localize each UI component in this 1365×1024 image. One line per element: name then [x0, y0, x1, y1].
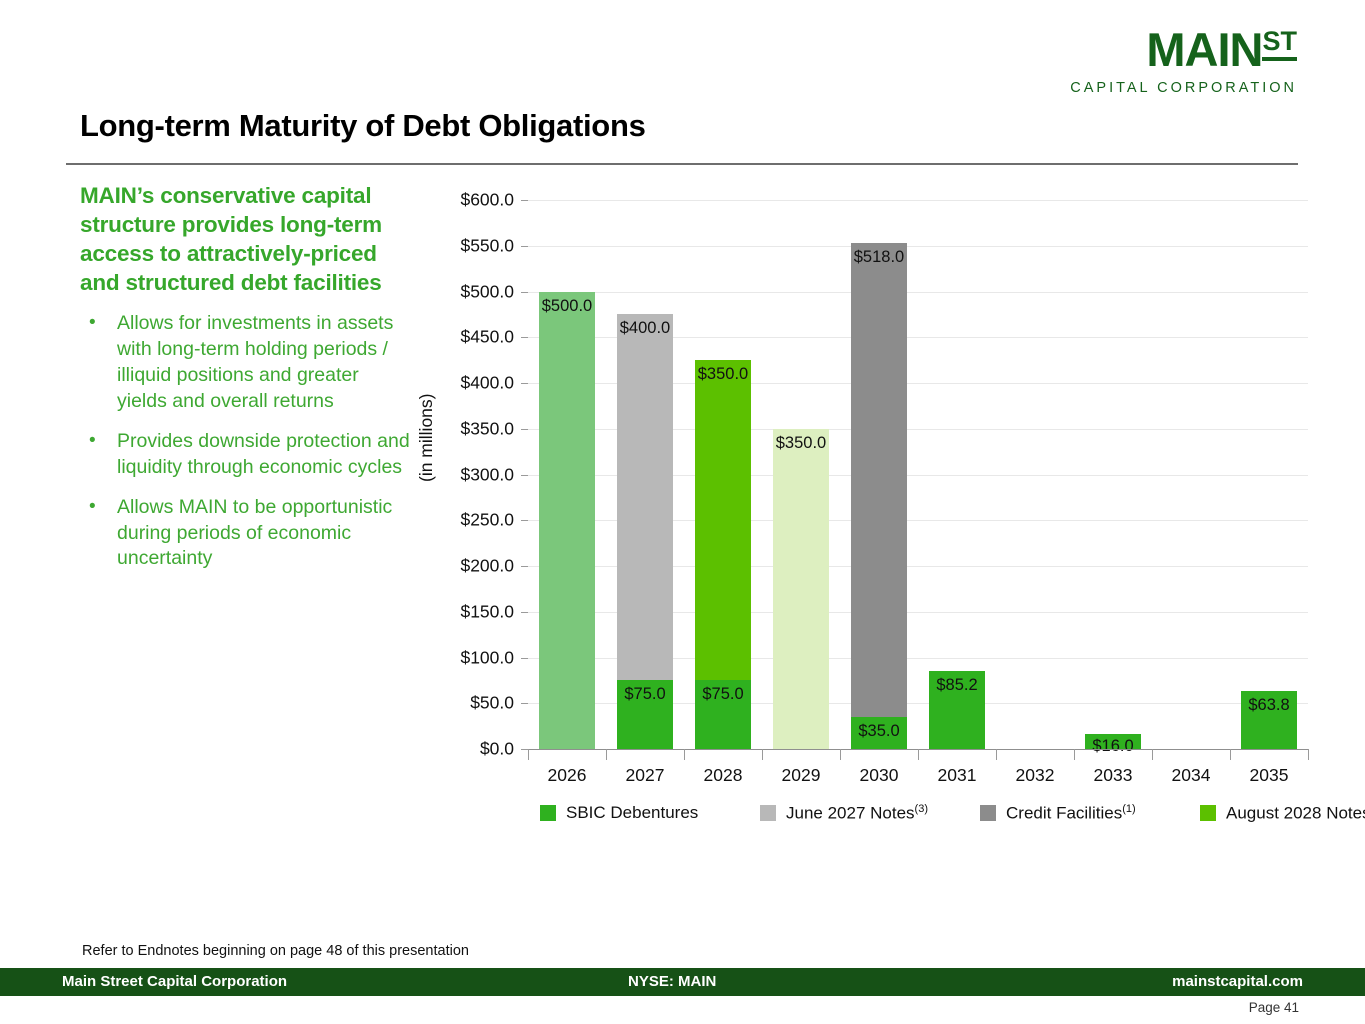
x-axis-tick-mark	[528, 749, 529, 760]
y-axis-tick-mark	[521, 749, 528, 750]
list-item: • Allows for investments in assets with …	[80, 311, 410, 415]
y-axis-tick-mark	[521, 429, 528, 430]
legend-label: SBIC Debentures	[566, 803, 698, 823]
footer-bar: Main Street Capital Corporation NYSE: MA…	[0, 968, 1365, 996]
bar-column-2030[interactable]: $35.0$518.0	[851, 243, 907, 749]
legend-item[interactable]: June 2027 Notes(3)	[760, 803, 980, 824]
bar-column-2035[interactable]: $63.8	[1241, 691, 1297, 749]
x-axis-tick-label: 2030	[860, 765, 899, 786]
bar-segment[interactable]: $350.0	[695, 360, 751, 680]
footer-website[interactable]: mainstcapital.com	[1172, 973, 1303, 990]
page-number: Page 41	[1249, 1000, 1299, 1015]
legend-item[interactable]: Credit Facilities(1)	[980, 803, 1200, 824]
chart-plot-area: $0.0$50.0$100.0$150.0$200.0$250.0$300.0$…	[528, 200, 1308, 749]
bullet-list: • Allows for investments in assets with …	[80, 311, 410, 572]
chart-legend: SBIC DebenturesJune 2027 Notes(3)Credit …	[540, 803, 1220, 824]
x-axis-tick-mark	[1152, 749, 1153, 760]
bar-value-label: $35.0	[858, 722, 899, 741]
gridline	[528, 246, 1308, 247]
x-axis-tick-mark	[1074, 749, 1075, 760]
x-axis-tick-mark	[684, 749, 685, 760]
y-axis-tick-label: $0.0	[374, 739, 514, 760]
legend-footnote-marker: (3)	[915, 803, 928, 815]
list-item-text: Allows MAIN to be opportunistic during p…	[117, 496, 392, 570]
y-axis-tick-mark	[521, 475, 528, 476]
bar-column-2026[interactable]: $500.0	[539, 292, 595, 750]
y-axis-tick-label: $450.0	[374, 327, 514, 348]
x-axis-tick-mark	[996, 749, 997, 760]
y-axis-tick-label: $150.0	[374, 601, 514, 622]
bar-segment[interactable]: $75.0	[617, 680, 673, 749]
gridline	[528, 200, 1308, 201]
bar-value-label: $518.0	[854, 248, 904, 267]
bar-column-2029[interactable]: $350.0	[773, 429, 829, 749]
y-axis-tick-mark	[521, 292, 528, 293]
endnote-reference: Refer to Endnotes beginning on page 48 o…	[82, 943, 469, 959]
y-axis-tick-mark	[521, 383, 528, 384]
lead-statement: MAIN’s conservative capital structure pr…	[80, 181, 410, 297]
y-axis-tick-label: $200.0	[374, 556, 514, 577]
x-axis-tick-mark	[1308, 749, 1309, 760]
bar-value-label: $85.2	[936, 676, 977, 695]
x-axis-tick-label: 2027	[626, 765, 665, 786]
bar-column-2027[interactable]: $75.0$400.0	[617, 314, 673, 749]
x-axis-tick-mark	[918, 749, 919, 760]
y-axis-tick-label: $50.0	[374, 693, 514, 714]
bar-value-label: $75.0	[624, 685, 665, 704]
y-axis-tick-label: $250.0	[374, 510, 514, 531]
bar-segment[interactable]: $350.0	[773, 429, 829, 749]
bullet-marker-icon: •	[89, 310, 96, 335]
legend-item[interactable]: SBIC Debentures	[540, 803, 760, 824]
logo-subtitle: CAPITAL CORPORATION	[1070, 80, 1297, 96]
company-logo: MAINST CAPITAL CORPORATION	[1070, 26, 1297, 96]
x-axis-tick-label: 2033	[1094, 765, 1133, 786]
y-axis-tick-label: $400.0	[374, 373, 514, 394]
bar-segment[interactable]: $500.0	[539, 292, 595, 750]
bar-segment[interactable]: $75.0	[695, 680, 751, 749]
y-axis-tick-mark	[521, 337, 528, 338]
x-axis-tick-label: 2028	[704, 765, 743, 786]
x-axis-tick-label: 2031	[938, 765, 977, 786]
debt-maturity-chart: (in millions) $0.0$50.0$100.0$150.0$200.…	[410, 182, 1320, 802]
legend-item[interactable]: August 2028 Notes(4)	[1200, 803, 1365, 824]
left-text-panel: MAIN’s conservative capital structure pr…	[80, 181, 410, 586]
x-axis-tick-label: 2026	[548, 765, 587, 786]
x-axis-tick-mark	[762, 749, 763, 760]
list-item-text: Allows for investments in assets with lo…	[117, 312, 393, 412]
bar-value-label: $350.0	[698, 365, 748, 384]
bar-value-label: $16.0	[1092, 737, 1133, 756]
bullet-marker-icon: •	[89, 494, 96, 519]
y-axis-tick-label: $500.0	[374, 281, 514, 302]
list-item: • Provides downside protection and liqui…	[80, 429, 410, 481]
y-axis-tick-label: $350.0	[374, 418, 514, 439]
logo-wordmark: MAINST	[1070, 26, 1297, 73]
legend-color-swatch	[760, 805, 776, 821]
list-item: • Allows MAIN to be opportunistic during…	[80, 495, 410, 573]
bar-column-2033[interactable]: $16.0	[1085, 734, 1141, 749]
y-axis-tick-label: $550.0	[374, 235, 514, 256]
y-axis-tick-label: $100.0	[374, 647, 514, 668]
bar-segment[interactable]: $85.2	[929, 671, 985, 749]
x-axis-tick-mark	[606, 749, 607, 760]
legend-label: August 2028 Notes(4)	[1226, 803, 1365, 824]
bar-value-label: $75.0	[702, 685, 743, 704]
bar-segment[interactable]: $400.0	[617, 314, 673, 680]
legend-color-swatch	[980, 805, 996, 821]
bar-column-2028[interactable]: $75.0$350.0	[695, 360, 751, 749]
y-axis-tick-mark	[521, 703, 528, 704]
y-axis-tick-mark	[521, 658, 528, 659]
page-title: Long-term Maturity of Debt Obligations	[80, 108, 646, 144]
title-divider	[66, 163, 1298, 165]
x-axis-tick-label: 2029	[782, 765, 821, 786]
legend-footnote-marker: (1)	[1122, 803, 1135, 815]
legend-color-swatch	[540, 805, 556, 821]
x-axis-tick-label: 2034	[1172, 765, 1211, 786]
logo-st-text: ST	[1262, 28, 1297, 61]
bullet-marker-icon: •	[89, 428, 96, 453]
y-axis-tick-mark	[521, 200, 528, 201]
y-axis-tick-mark	[521, 612, 528, 613]
x-axis-tick-label: 2035	[1250, 765, 1289, 786]
y-axis-tick-mark	[521, 520, 528, 521]
y-axis-tick-mark	[521, 566, 528, 567]
y-axis-tick-mark	[521, 246, 528, 247]
x-axis-tick-label: 2032	[1016, 765, 1055, 786]
legend-label: Credit Facilities(1)	[1006, 803, 1136, 824]
bar-segment[interactable]: $35.0	[851, 717, 907, 749]
legend-label: June 2027 Notes(3)	[786, 803, 928, 824]
x-axis-tick-mark	[840, 749, 841, 760]
logo-main-text: MAIN	[1146, 26, 1262, 73]
footer-ticker: NYSE: MAIN	[628, 973, 716, 990]
bar-segment[interactable]: $63.8	[1241, 691, 1297, 749]
bar-column-2031[interactable]: $85.2	[929, 671, 985, 749]
gridline	[528, 292, 1308, 293]
bar-value-label: $500.0	[542, 297, 592, 316]
y-axis-tick-label: $300.0	[374, 464, 514, 485]
bar-value-label: $400.0	[620, 319, 670, 338]
x-axis-line: 2026202720282029203020312032203320342035	[528, 749, 1308, 750]
list-item-text: Provides downside protection and liquidi…	[117, 430, 410, 478]
bar-value-label: $63.8	[1248, 696, 1289, 715]
bar-value-label: $350.0	[776, 434, 826, 453]
x-axis-tick-mark	[1230, 749, 1231, 760]
bar-segment[interactable]: $16.0	[1085, 734, 1141, 749]
y-axis-tick-label: $600.0	[374, 190, 514, 211]
footer-company-name: Main Street Capital Corporation	[62, 973, 287, 990]
legend-color-swatch	[1200, 805, 1216, 821]
bar-segment[interactable]: $518.0	[851, 243, 907, 717]
